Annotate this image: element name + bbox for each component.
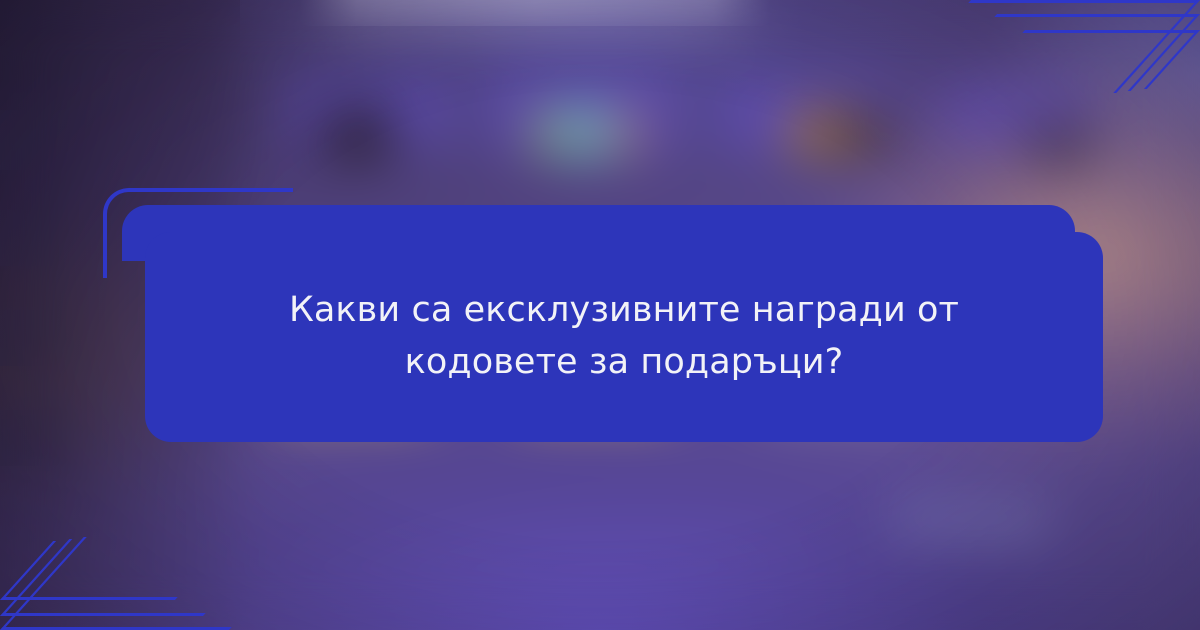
question-text: Какви са ексклузивните награди от кодове… bbox=[274, 285, 974, 389]
banner-stage: Какви са ексклузивните награди от кодове… bbox=[0, 0, 1200, 630]
question-card: Какви са ексклузивните награди от кодове… bbox=[145, 232, 1103, 442]
